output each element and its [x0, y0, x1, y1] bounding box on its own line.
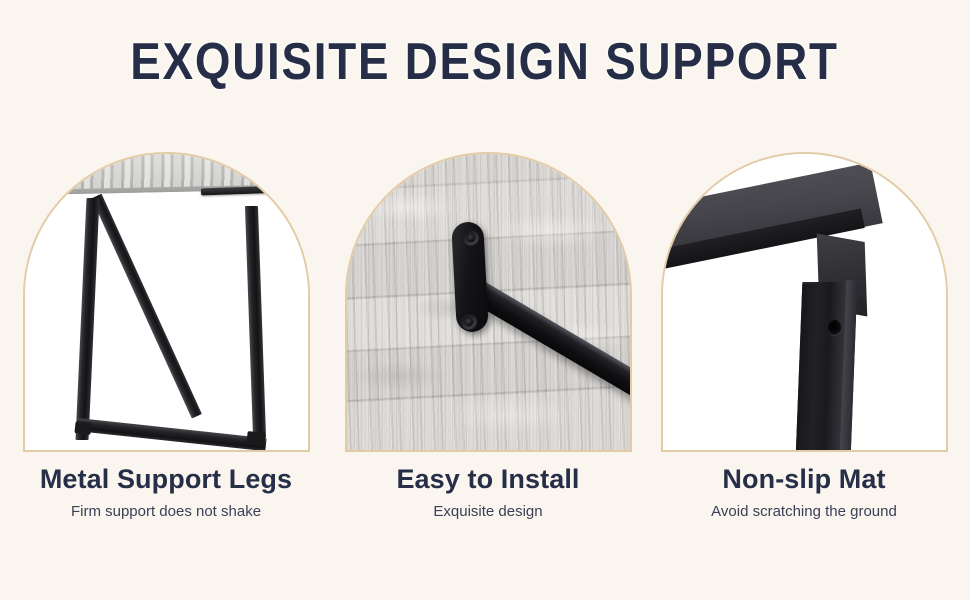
feature-panel-metal-support-legs	[23, 152, 310, 452]
caption-subtitle: Avoid scratching the ground	[644, 502, 964, 522]
feature-panel-easy-to-install	[345, 152, 632, 452]
arch-frame	[661, 152, 948, 452]
feature-image-row	[0, 152, 970, 454]
right-post	[245, 206, 266, 438]
caption-title: Easy to Install	[328, 462, 648, 496]
caption-subtitle: Exquisite design	[328, 502, 648, 522]
page-title: EXQUISITE DESIGN SUPPORT	[131, 36, 839, 88]
arch-image-clip	[663, 154, 946, 450]
screw-hole-icon	[463, 230, 479, 246]
caption-title: Metal Support Legs	[6, 462, 326, 496]
screw-hole-icon	[461, 314, 477, 330]
header: EXQUISITE DESIGN SUPPORT	[0, 36, 970, 88]
arch-frame	[345, 152, 632, 452]
foot-pad-left	[74, 421, 91, 435]
arch-image-clip	[25, 154, 308, 450]
bottom-rail	[76, 418, 266, 450]
caption-title: Non-slip Mat	[644, 462, 964, 496]
corner-joint-photo	[663, 154, 946, 450]
caption-easy-to-install: Easy to Install Exquisite design	[328, 462, 648, 522]
feature-panel-non-slip-mat	[661, 152, 948, 452]
caption-subtitle: Firm support does not shake	[6, 502, 326, 522]
diagonal-brace	[91, 194, 201, 419]
left-post	[76, 198, 100, 440]
screw-hole-icon	[828, 320, 841, 335]
arch-image-clip	[347, 154, 630, 450]
infographic-page: EXQUISITE DESIGN SUPPORT	[0, 0, 970, 600]
caption-non-slip-mat: Non-slip Mat Avoid scratching the ground	[644, 462, 964, 522]
arch-frame	[23, 152, 310, 452]
caption-metal-support-legs: Metal Support Legs Firm support does not…	[6, 462, 326, 522]
metal-legs-photo	[25, 154, 308, 450]
feature-caption-row: Metal Support Legs Firm support does not…	[0, 462, 970, 552]
foot-pad-right	[246, 431, 265, 446]
